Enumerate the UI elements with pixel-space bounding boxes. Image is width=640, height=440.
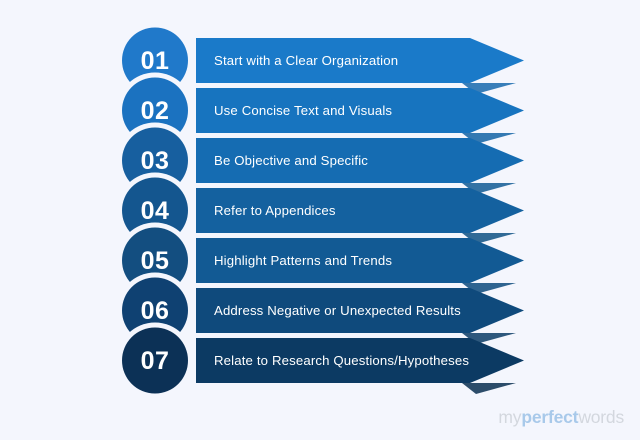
step-label: Relate to Research Questions/Hypotheses xyxy=(214,354,469,367)
logo-text-words: words xyxy=(578,407,624,427)
step-number: 03 xyxy=(125,149,185,174)
logo-text-perfect: perfect xyxy=(521,407,578,427)
step-label: Start with a Clear Organization xyxy=(214,54,398,67)
step-label: Be Objective and Specific xyxy=(214,154,368,167)
step-number: 01 xyxy=(125,49,185,74)
brand-logo: myperfectwords xyxy=(498,409,624,427)
step-number: 05 xyxy=(125,249,185,274)
logo-text-my: my xyxy=(498,407,521,427)
step-number: 07 xyxy=(125,349,185,374)
step-label: Use Concise Text and Visuals xyxy=(214,104,392,117)
steps-infographic: Start with a Clear OrganizationUse Conci… xyxy=(0,0,640,440)
arrow-shadow xyxy=(462,383,516,394)
step-label: Highlight Patterns and Trends xyxy=(214,254,392,267)
step-label: Address Negative or Unexpected Results xyxy=(214,304,461,317)
step-number: 02 xyxy=(125,99,185,124)
step-number: 04 xyxy=(125,199,185,224)
step-number: 06 xyxy=(125,299,185,324)
step-label: Refer to Appendices xyxy=(214,204,336,217)
